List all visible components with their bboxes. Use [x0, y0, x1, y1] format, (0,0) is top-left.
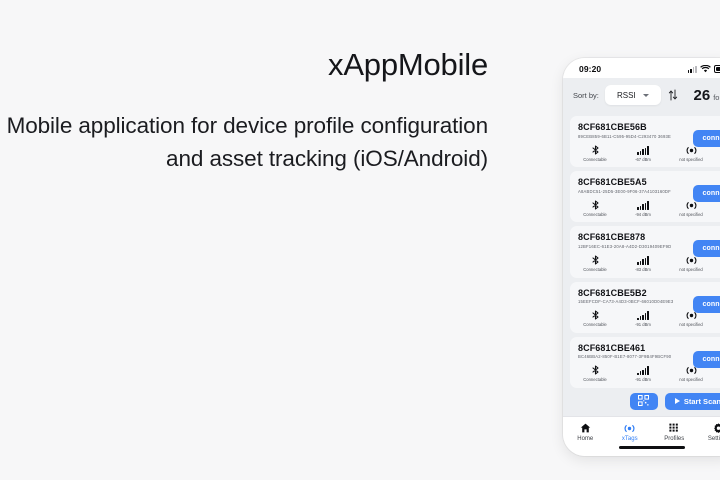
stat-connectable-label: Connectable: [583, 322, 607, 327]
signal-bars-icon: [637, 254, 649, 265]
stat-rssi: -91 dBm: [626, 309, 660, 327]
signal-bars-icon: [637, 199, 649, 210]
stat-connectable-label: Connectable: [583, 377, 607, 382]
stat-rssi-label: -83 dBm: [635, 267, 651, 272]
gear-icon: [713, 422, 720, 434]
status-icons: [688, 65, 720, 73]
battery-icon: [714, 65, 720, 73]
home-indicator[interactable]: [619, 446, 685, 449]
stat-rssi: -83 dBm: [626, 254, 660, 272]
start-scan-label: Start Scan: [684, 397, 720, 406]
connect-button[interactable]: connect: [693, 240, 720, 257]
stat-rssi: -67 dBm: [626, 144, 660, 162]
qr-code-scan-button[interactable]: [630, 393, 658, 410]
stat-rssi-label: -91 dBm: [635, 377, 651, 382]
device-card[interactable]: 8CF681CBE878 12BF16EC-61E3-20A8-A4D2-D30…: [570, 226, 720, 277]
tab-profiles[interactable]: Profiles: [652, 422, 697, 442]
stat-rssi: -91 dBm: [626, 364, 660, 382]
signal-bars-icon: [637, 144, 649, 155]
stat-rssi: -94 dBm: [626, 199, 660, 217]
stat-rssi-label: -67 dBm: [635, 157, 651, 162]
beacon-icon: [623, 422, 636, 434]
bluetooth-icon: [592, 254, 599, 265]
sort-bar: Sort by: RSSI 26 found: [563, 78, 720, 112]
tab-bar: Home xTags Profi: [563, 416, 720, 456]
stat-type-label: not specified: [679, 322, 703, 327]
sort-select-value: RSSI: [617, 91, 636, 100]
tab-xtags[interactable]: xTags: [608, 422, 653, 442]
tab-xtags-label: xTags: [622, 436, 638, 442]
device-card[interactable]: 8CF681CBE5B2 15EEFCDF-CA73-A4D3-0BCF-660…: [570, 282, 720, 333]
cellular-signal-icon: [688, 66, 697, 73]
tab-home-label: Home: [577, 436, 593, 442]
slide-copy: xAppMobile Mobile application for device…: [0, 48, 505, 175]
bluetooth-icon: [592, 199, 599, 210]
sort-by-label: Sort by:: [573, 91, 599, 100]
page-title: xAppMobile: [0, 48, 505, 82]
home-icon: [580, 422, 591, 434]
subtitle-line-2: and asset tracking (iOS/Android): [0, 143, 488, 176]
stat-connectable: Connectable: [578, 199, 612, 217]
tab-settings-label: Settings: [708, 436, 720, 442]
tab-profiles-label: Profiles: [664, 436, 684, 442]
slide-root: xAppMobile Mobile application for device…: [0, 0, 720, 480]
connect-button[interactable]: connect: [693, 296, 720, 313]
device-count: 26 found: [694, 87, 720, 104]
signal-bars-icon: [637, 309, 649, 320]
device-list[interactable]: 8CF681CBE56B 89CEB859-6B11-C595-95D4-C29…: [563, 112, 720, 388]
device-card[interactable]: 8CF681CBE461 BC46BBA2-850F-B1E7-8077-3F9…: [570, 337, 720, 388]
stat-type-label: not specified: [679, 212, 703, 217]
bluetooth-icon: [592, 364, 599, 375]
stat-connectable: Connectable: [578, 144, 612, 162]
wifi-icon: [700, 65, 711, 73]
stat-type-label: not specified: [679, 267, 703, 272]
qr-code-icon: [638, 394, 649, 409]
connect-button[interactable]: connect: [693, 185, 720, 202]
bluetooth-icon: [592, 309, 599, 320]
status-time: 09:20: [579, 64, 601, 74]
stat-rssi-label: -94 dBm: [635, 212, 651, 217]
device-count-number: 26: [694, 87, 711, 104]
stat-connectable: Connectable: [578, 364, 612, 382]
stat-type-label: not specified: [679, 377, 703, 382]
stat-connectable-label: Connectable: [583, 157, 607, 162]
connect-button[interactable]: connect: [693, 130, 720, 147]
connect-button[interactable]: connect: [693, 351, 720, 368]
stat-connectable: Connectable: [578, 254, 612, 272]
action-bar: Start Scan: [563, 388, 720, 416]
subtitle-line-1: Mobile application for device profile co…: [7, 113, 488, 138]
device-count-label: found: [713, 93, 720, 102]
start-scan-button[interactable]: Start Scan: [665, 393, 720, 410]
page-subtitle: Mobile application for device profile co…: [0, 110, 505, 175]
device-card[interactable]: 8CF681CBE5A5 A8ABDC51-25D5-3E00-9F06-37A…: [570, 171, 720, 222]
chevron-down-icon: [643, 94, 649, 97]
stat-connectable-label: Connectable: [583, 267, 607, 272]
tab-home[interactable]: Home: [563, 422, 608, 442]
stat-connectable: Connectable: [578, 309, 612, 327]
signal-bars-icon: [637, 364, 649, 375]
tab-settings[interactable]: Settings: [697, 422, 720, 442]
stat-type-label: not specified: [679, 157, 703, 162]
sort-direction-icon[interactable]: [667, 88, 679, 102]
phone-mockup: 09:20 Sort by: RSSI: [563, 58, 720, 456]
stat-connectable-label: Connectable: [583, 212, 607, 217]
play-icon: [675, 398, 680, 404]
stat-rssi-label: -91 dBm: [635, 322, 651, 327]
grid-icon: [669, 422, 680, 434]
bluetooth-icon: [592, 144, 599, 155]
device-card[interactable]: 8CF681CBE56B 89CEB859-6B11-C595-95D4-C29…: [570, 116, 720, 167]
sort-select[interactable]: RSSI: [605, 85, 661, 105]
status-bar: 09:20: [563, 58, 720, 78]
